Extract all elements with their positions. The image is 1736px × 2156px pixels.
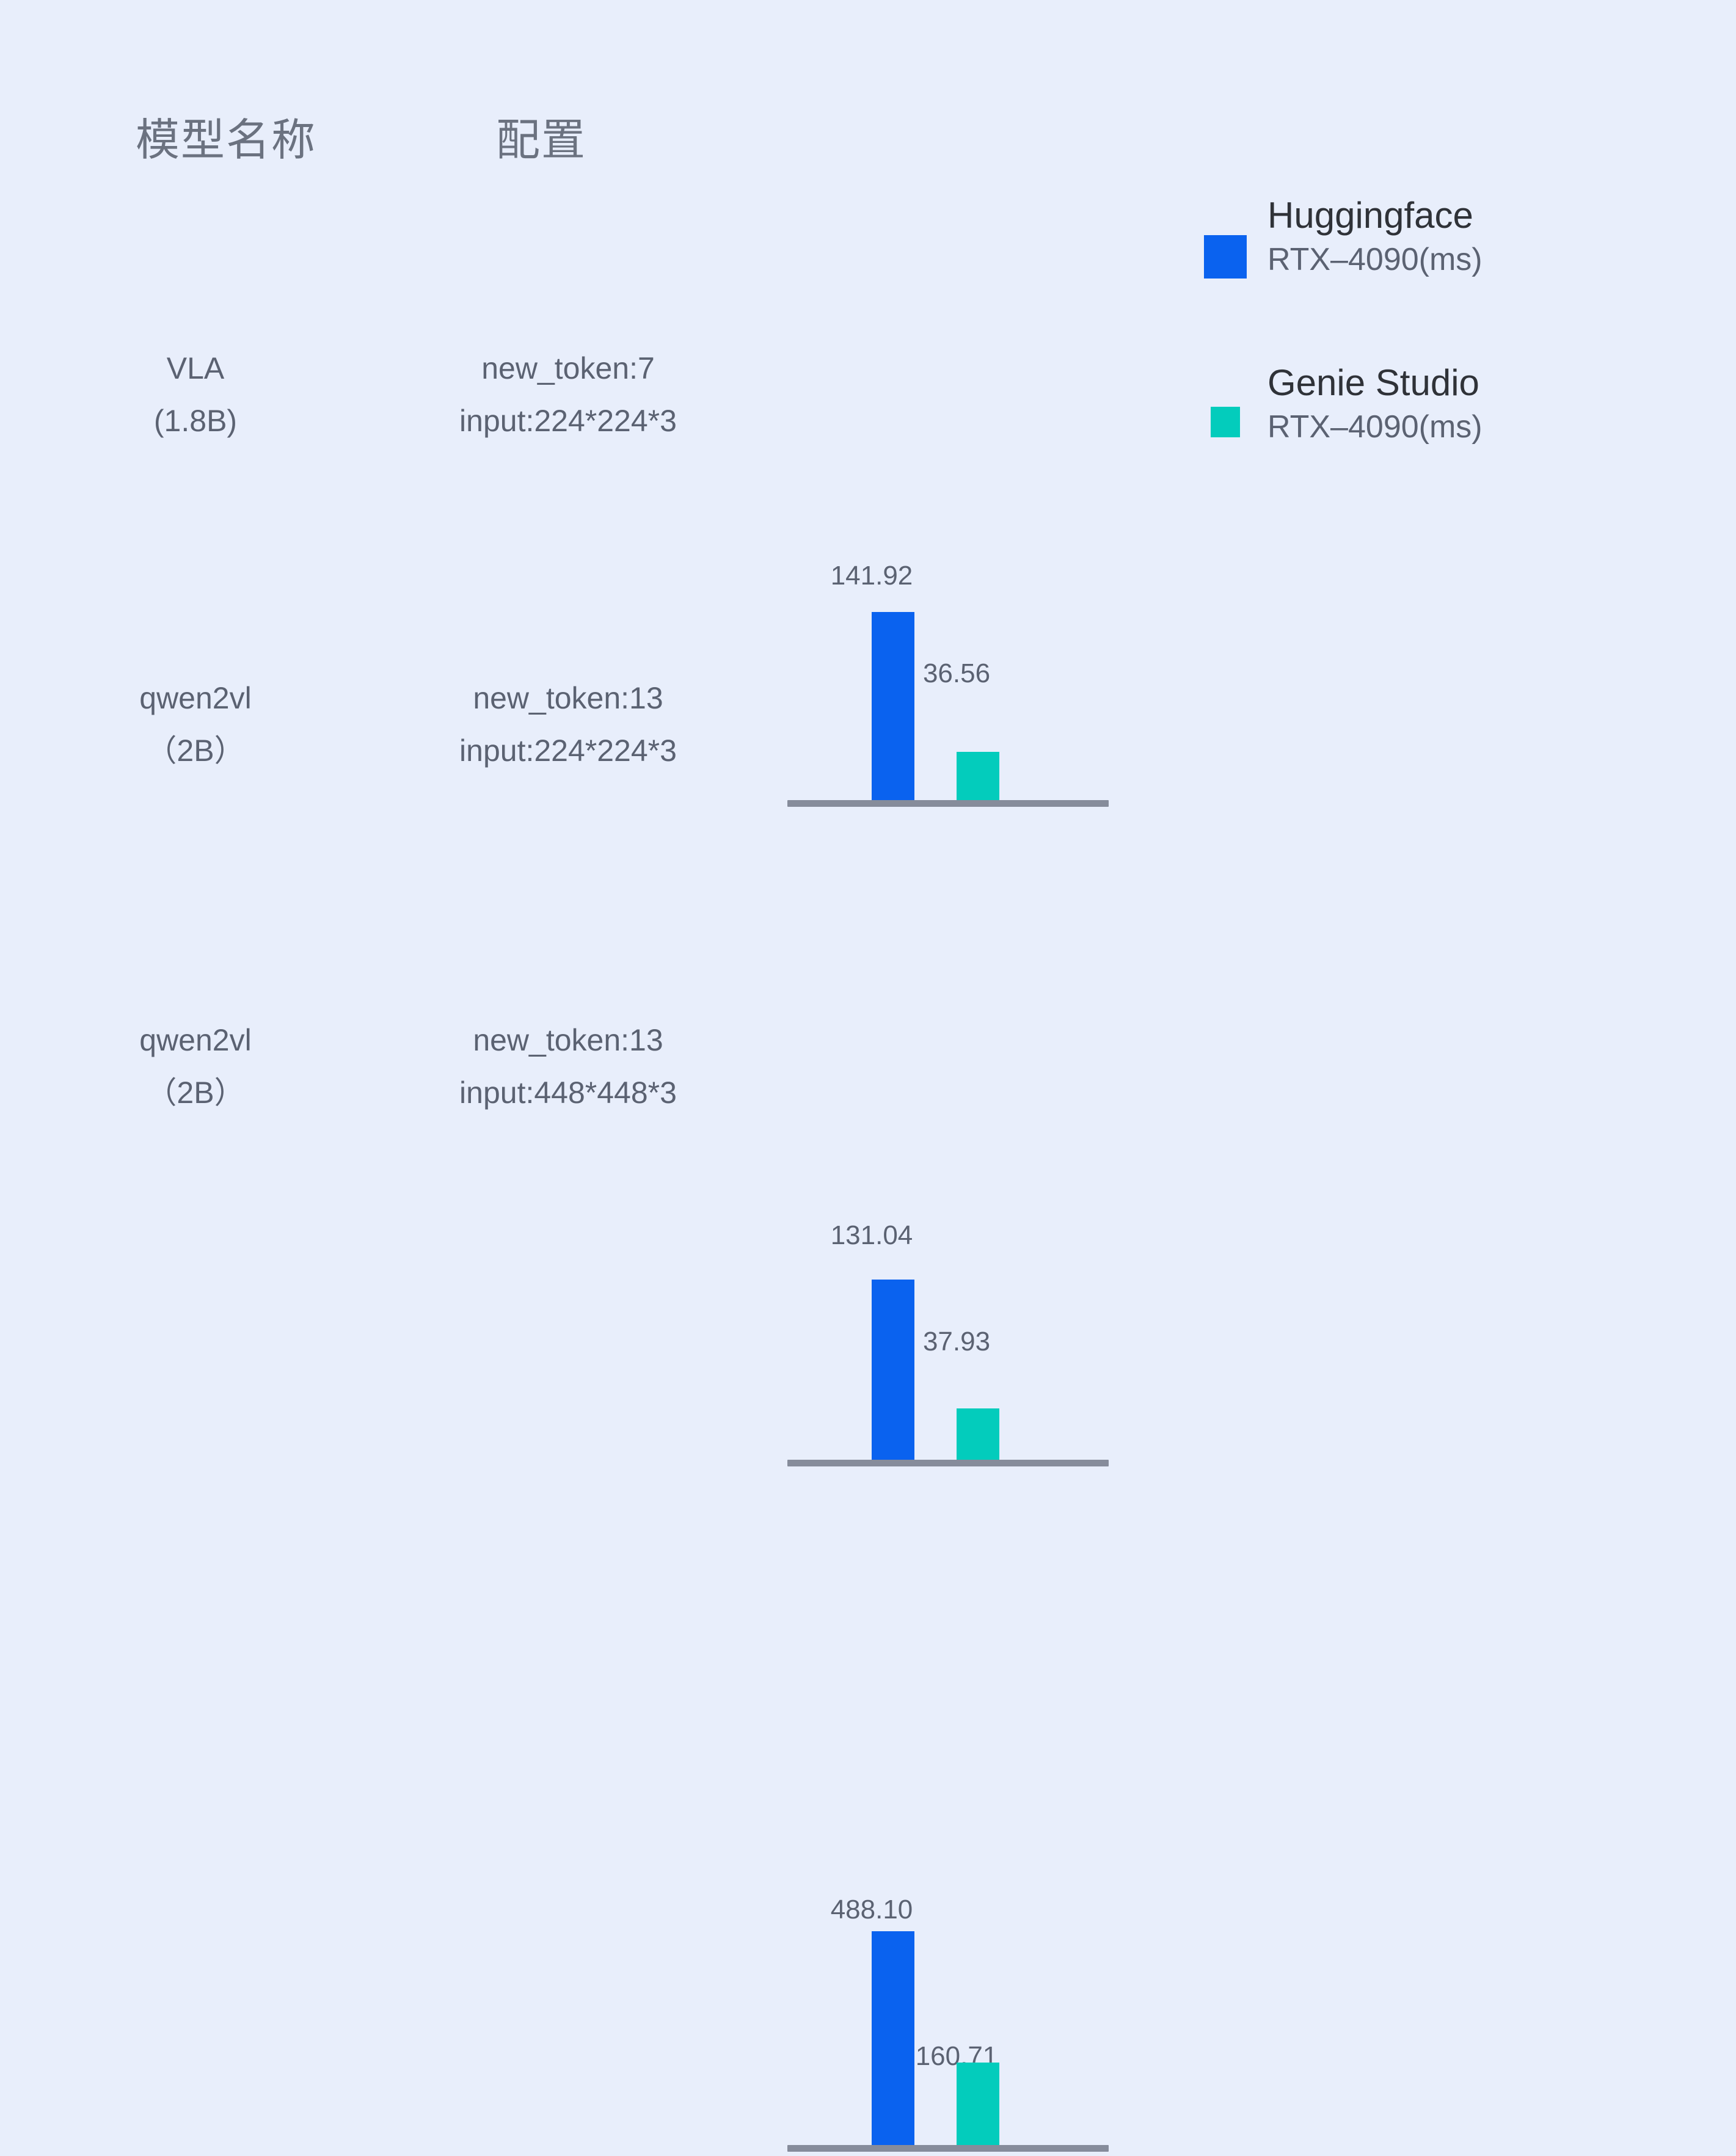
table-row: qwen2vl （2B） new_token:13 input:448*448*… [0, 1014, 1736, 1185]
legend-swatch-genie-studio [1211, 407, 1240, 437]
model-name-line2: （2B） [86, 724, 305, 777]
config-cell: new_token:13 input:224*224*3 [342, 672, 794, 777]
bar-value-label-genie-studio: 37.93 [883, 1327, 1030, 1357]
bar-value-label-huggingface: 141.92 [798, 561, 945, 591]
bar-value-label-huggingface: 488.10 [798, 1895, 945, 1925]
bar-genie-studio [957, 1408, 999, 1460]
row-bar-chart: 488.10 160.71 [787, 1912, 1129, 2156]
bar-huggingface [872, 1280, 914, 1460]
legend-title: Huggingface [1267, 195, 1483, 236]
config-line2: input:448*448*3 [342, 1066, 794, 1119]
table-row: qwen2vl （2B） new_token:13 input:224*224*… [0, 672, 1736, 843]
column-header-model-name: 模型名称 [136, 104, 316, 168]
chart-page: 模型名称 配置 VLA (1.8B) new_token:7 input:224… [0, 0, 1736, 1285]
row-bar-chart: 131.04 37.93 [787, 1234, 1129, 1472]
model-name-line2: (1.8B) [86, 395, 305, 447]
column-header-config: 配置 [496, 104, 586, 168]
chart-baseline [787, 1460, 1109, 1466]
model-name-cell: qwen2vl （2B） [86, 1014, 305, 1119]
config-line1: new_token:13 [473, 681, 663, 715]
config-line1: new_token:7 [481, 351, 655, 385]
model-name-cell: qwen2vl （2B） [86, 672, 305, 777]
config-line2: input:224*224*3 [342, 724, 794, 777]
model-name-cell: VLA (1.8B) [86, 342, 305, 447]
model-name-line2: （2B） [86, 1066, 305, 1119]
config-line2: input:224*224*3 [342, 395, 794, 447]
bar-genie-studio [957, 2063, 999, 2145]
model-name-line1: qwen2vl [139, 681, 251, 715]
model-name-line1: qwen2vl [139, 1023, 251, 1057]
legend-swatch-huggingface [1204, 235, 1247, 279]
legend-subtitle: RTX–4090(ms) [1267, 236, 1483, 283]
model-name-line1: VLA [167, 351, 225, 385]
config-line1: new_token:13 [473, 1023, 663, 1057]
legend-label-group: Huggingface RTX–4090(ms) [1267, 195, 1483, 283]
legend-label-group: Genie Studio RTX–4090(ms) [1267, 363, 1483, 451]
bar-value-label-huggingface: 131.04 [798, 1220, 945, 1251]
config-cell: new_token:7 input:224*224*3 [342, 342, 794, 447]
chart-baseline [787, 2145, 1109, 2152]
config-cell: new_token:13 input:448*448*3 [342, 1014, 794, 1119]
legend-title: Genie Studio [1267, 363, 1483, 403]
legend-subtitle: RTX–4090(ms) [1267, 403, 1483, 451]
